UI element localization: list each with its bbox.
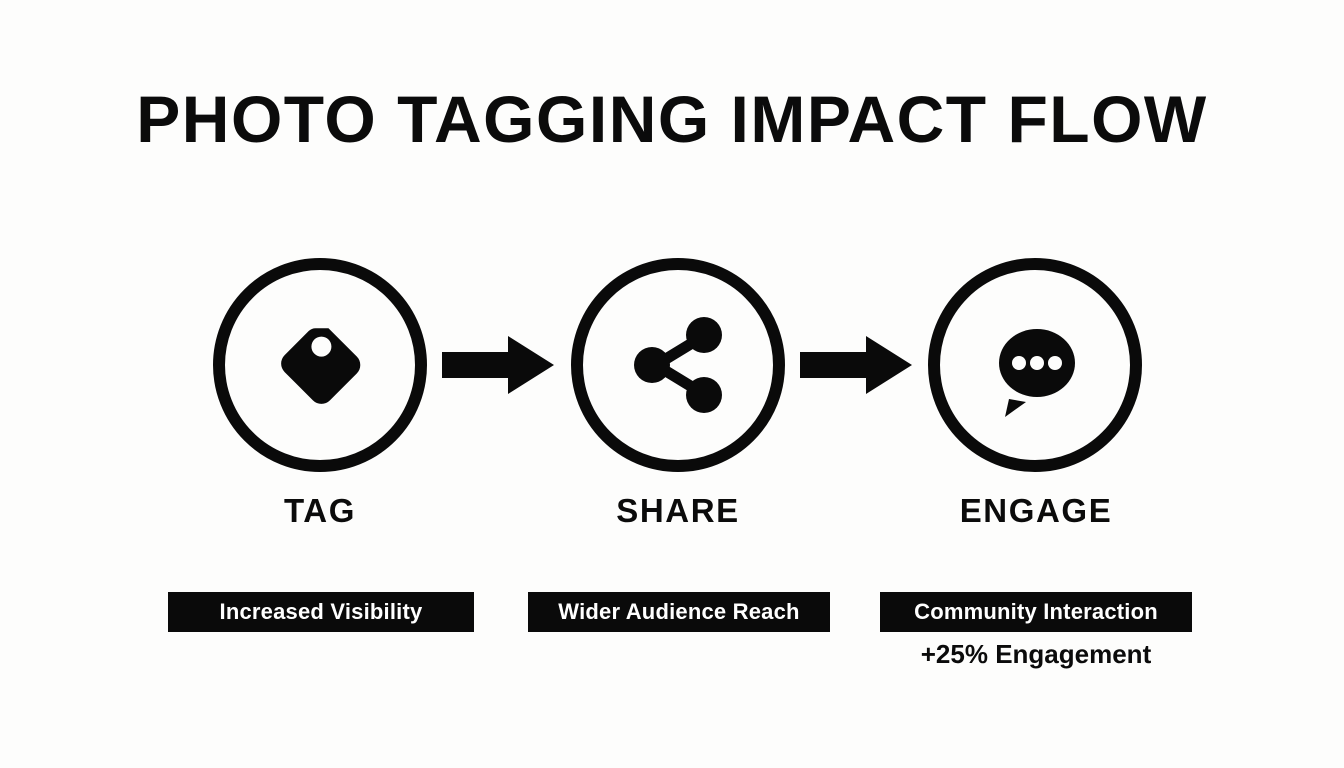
flow-step-engage[interactable] xyxy=(928,258,1142,472)
flow-step-tag[interactable] xyxy=(213,258,427,472)
tag-icon xyxy=(264,309,376,421)
step-label-share: SHARE xyxy=(548,494,808,527)
benefit-badge-reach: Wider Audience Reach xyxy=(528,592,830,632)
arrow-right-icon xyxy=(800,332,912,398)
engagement-metric: +25% Engagement xyxy=(880,640,1192,669)
benefit-badge-visibility: Increased Visibility xyxy=(168,592,474,632)
share-icon xyxy=(622,309,734,421)
step-label-tag: TAG xyxy=(190,494,450,527)
arrow-right-icon xyxy=(442,332,554,398)
page-title: PHOTO TAGGING IMPACT FLOW xyxy=(0,86,1344,152)
infographic-canvas: PHOTO TAGGING IMPACT FLOW xyxy=(0,0,1344,768)
flow-row xyxy=(0,258,1344,478)
chat-bubble-icon xyxy=(979,309,1091,421)
step-label-engage: ENGAGE xyxy=(906,494,1166,527)
benefit-badge-interaction: Community Interaction xyxy=(880,592,1192,632)
flow-step-share[interactable] xyxy=(571,258,785,472)
